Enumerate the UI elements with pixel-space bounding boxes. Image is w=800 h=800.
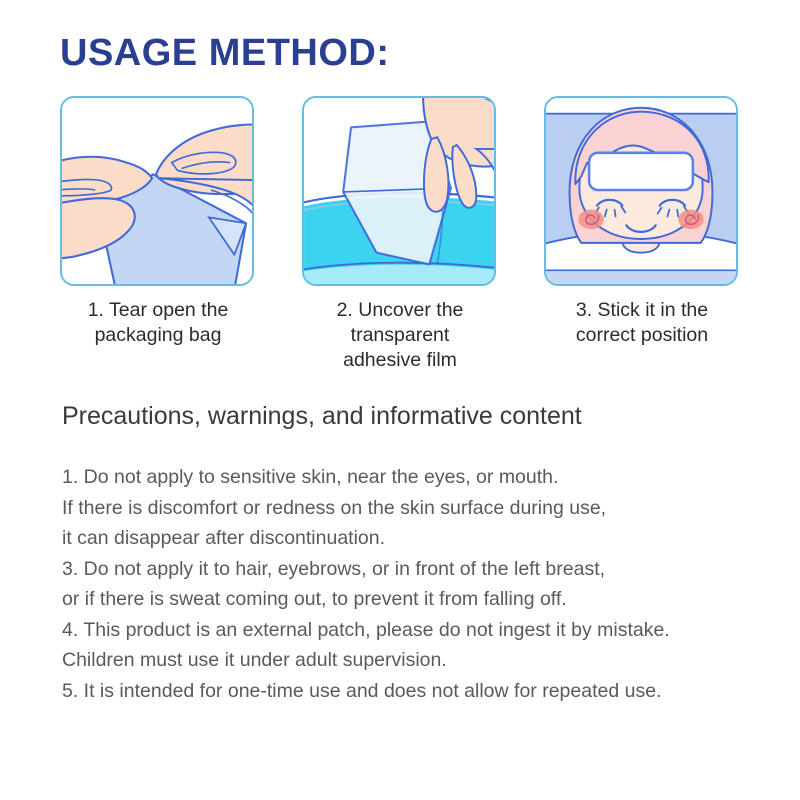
- step-3: 3. Stick it in the correct position: [544, 96, 740, 373]
- precaution-line: Children must use it under adult supervi…: [62, 645, 762, 676]
- precaution-line: or if there is sweat coming out, to prev…: [62, 584, 762, 615]
- precaution-line: 5. It is intended for one-time use and d…: [62, 676, 762, 707]
- step-1-caption: 1. Tear open the packaging bag: [60, 298, 256, 348]
- fingers-peeling-transparent-film-icon: [304, 98, 494, 284]
- step-1-illustration-panel: [60, 96, 254, 286]
- step-2: 2. Uncover the transparent adhesive film: [302, 96, 498, 373]
- step-1: 1. Tear open the packaging bag: [60, 96, 256, 373]
- step-3-caption: 3. Stick it in the correct position: [544, 298, 740, 348]
- step-3-illustration-panel: [544, 96, 738, 286]
- steps-row: 1. Tear open the packaging bag: [60, 96, 740, 373]
- step-2-illustration-panel: [302, 96, 496, 286]
- precautions-body: 1. Do not apply to sensitive skin, near …: [62, 462, 762, 706]
- step-2-caption: 2. Uncover the transparent adhesive film: [302, 298, 498, 373]
- precautions-heading: Precautions, warnings, and informative c…: [62, 402, 582, 431]
- child-with-forehead-patch-icon: [546, 98, 736, 284]
- precaution-line: it can disappear after discontinuation.: [62, 523, 762, 554]
- precaution-line: 4. This product is an external patch, pl…: [62, 615, 762, 646]
- precaution-line: If there is discomfort or redness on the…: [62, 493, 762, 524]
- hands-tearing-packaging-bag-icon: [62, 98, 252, 284]
- precaution-line: 3. Do not apply it to hair, eyebrows, or…: [62, 554, 762, 585]
- usage-method-page: USAGE METHOD:: [0, 0, 800, 800]
- page-title: USAGE METHOD:: [60, 32, 390, 75]
- precaution-line: 1. Do not apply to sensitive skin, near …: [62, 462, 762, 493]
